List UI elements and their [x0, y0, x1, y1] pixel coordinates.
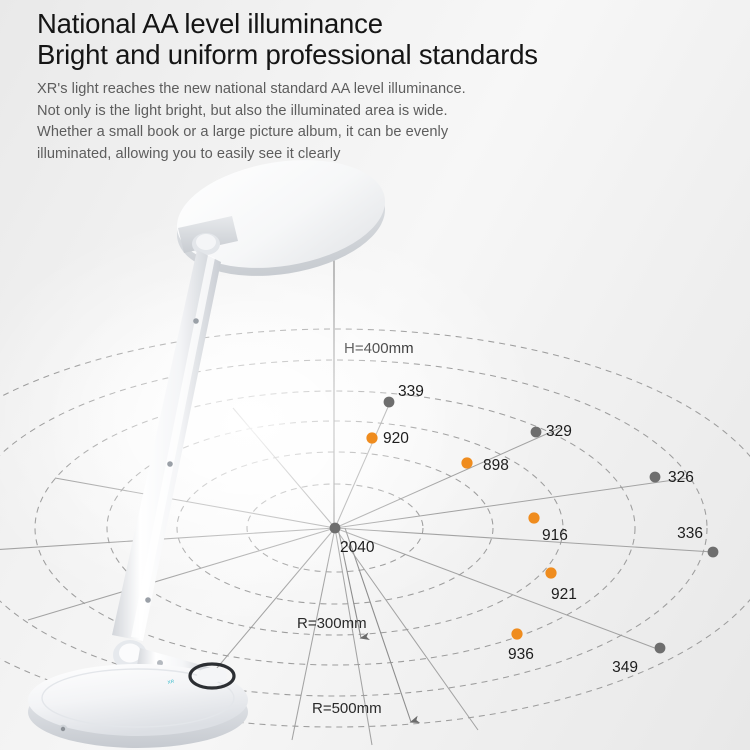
data-label-326: 326 — [668, 469, 694, 486]
data-point-349 — [655, 643, 666, 654]
data-point-921 — [545, 567, 556, 578]
data-point-329 — [531, 427, 542, 438]
data-label-920: 920 — [383, 430, 409, 447]
data-point-936 — [511, 628, 522, 639]
data-label-349: 349 — [612, 659, 638, 676]
body-line-4: illuminated, allowing you to easily see … — [37, 144, 717, 166]
body-line-2: Not only is the light bright, but also t… — [37, 101, 717, 123]
product-illuminance-infographic: National AA level illuminance Bright and… — [0, 0, 750, 750]
data-label-916: 916 — [542, 527, 568, 544]
center-label: 2040 — [340, 539, 375, 556]
data-point-916 — [528, 512, 539, 523]
data-point-898 — [461, 457, 472, 468]
data-label-329: 329 — [546, 423, 572, 440]
data-point-339 — [384, 397, 395, 408]
center-dot — [330, 523, 341, 534]
body-line-1: XR's light reaches the new national stan… — [37, 79, 717, 101]
data-point-center: 2040 — [330, 523, 375, 556]
body-paragraph: XR's light reaches the new national stan… — [37, 79, 717, 165]
body-line-3: Whether a small book or a large picture … — [37, 122, 717, 144]
headline-line-1: National AA level illuminance — [37, 8, 717, 39]
data-point-326 — [650, 472, 661, 483]
data-label-936: 936 — [508, 646, 534, 663]
data-point-920 — [366, 432, 377, 443]
header-block: National AA level illuminance Bright and… — [37, 8, 717, 165]
data-point-336 — [708, 547, 719, 558]
data-label-339: 339 — [398, 383, 424, 400]
data-label-336: 336 — [677, 525, 703, 542]
headline-line-2: Bright and uniform professional standard… — [37, 39, 717, 70]
series-r300-points: 920898916921936 — [366, 430, 576, 663]
data-label-921: 921 — [551, 586, 577, 603]
data-label-898: 898 — [483, 457, 509, 474]
